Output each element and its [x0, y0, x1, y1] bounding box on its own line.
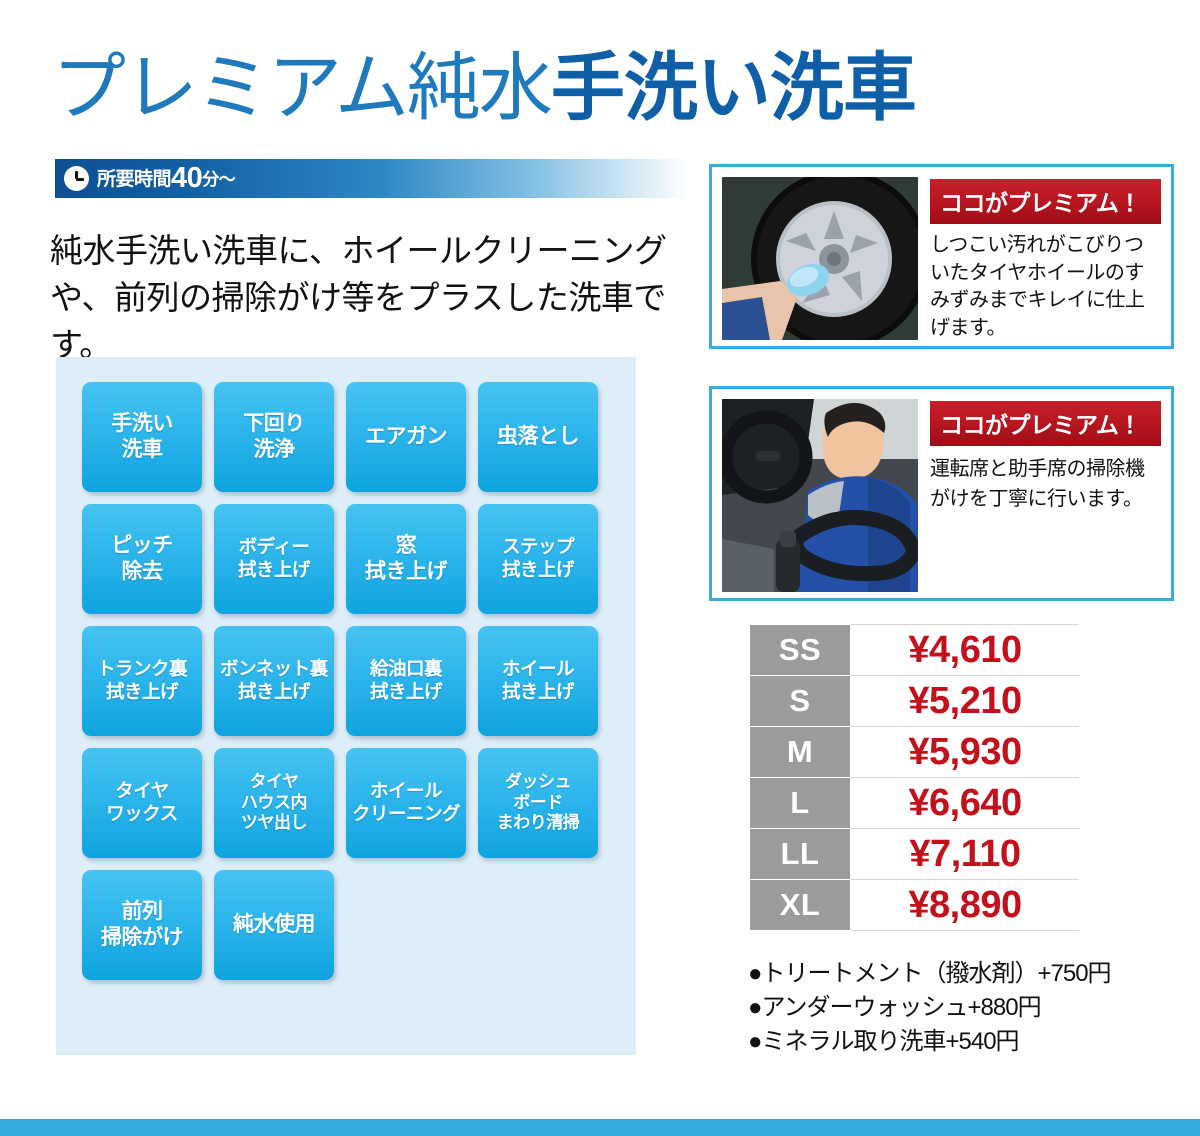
price-row: LL¥7,110 — [750, 829, 1080, 880]
feature-tile: タイヤ ハウス内 ツヤ出し — [214, 748, 334, 858]
callout-text: しつこい汚れがこびりついたタイヤホイールのすみずみまでキレイに仕上げます。 — [930, 232, 1161, 342]
page-title-light: プレミアム純水 — [52, 46, 551, 129]
premium-callout-interior: ココがプレミアム！ 運転席と助手席の掃除機がけを丁寧に行います。 — [709, 386, 1174, 601]
feature-tile-label: ボンネット裏 拭き上げ — [220, 658, 328, 703]
premium-banner: ココがプレミアム！ — [930, 179, 1161, 224]
feature-tile: 前列 掃除がけ — [82, 870, 202, 980]
feature-tile-label: 下回り 洗浄 — [243, 411, 305, 462]
feature-tile: 給油口裏 拭き上げ — [346, 626, 466, 736]
feature-tile: ホイール クリーニング — [346, 748, 466, 858]
price-value: ¥5,930 — [851, 727, 1080, 778]
price-value: ¥4,610 — [851, 625, 1080, 676]
feature-tile: エアガン — [346, 382, 466, 492]
price-row: XL¥8,890 — [750, 880, 1080, 931]
feature-tile-label: ホイール クリーニング — [352, 780, 460, 825]
feature-tile-label: ステップ 拭き上げ — [502, 536, 574, 581]
feature-row: 前列 掃除がけ純水使用 — [82, 870, 636, 980]
duration-text: 所要時間40分〜 — [97, 162, 235, 195]
feature-tile: ボンネット裏 拭き上げ — [214, 626, 334, 736]
feature-tile: 手洗い 洗車 — [82, 382, 202, 492]
price-row: L¥6,640 — [750, 778, 1080, 829]
feature-tile-label: 給油口裏 拭き上げ — [370, 658, 442, 703]
premium-banner: ココがプレミアム！ — [930, 401, 1161, 446]
price-value: ¥6,640 — [851, 778, 1080, 829]
feature-tile: タイヤ ワックス — [82, 748, 202, 858]
feature-tile: 純水使用 — [214, 870, 334, 980]
price-size-label: SS — [750, 625, 851, 676]
feature-row: 手洗い 洗車下回り 洗浄エアガン虫落とし — [82, 382, 636, 492]
service-description: 純水手洗い洗車に、ホイールクリーニングや、前列の掃除がけ等をプラスした洗車です。 — [50, 228, 720, 369]
price-row: M¥5,930 — [750, 727, 1080, 778]
feature-tile: 虫落とし — [478, 382, 598, 492]
poster-page: プレミアム純水手洗い洗車 所要時間40分〜 純水手洗い洗車に、ホイールクリーニン… — [0, 0, 1200, 1136]
price-size-label: LL — [750, 829, 851, 880]
callout-body: ココがプレミアム！ しつこい汚れがこびりついたタイヤホイールのすみずみまでキレイ… — [930, 177, 1161, 342]
feature-tile: ボディー 拭き上げ — [214, 504, 334, 614]
feature-tile-label: 窓 拭き上げ — [365, 533, 447, 584]
price-size-label: M — [750, 727, 851, 778]
price-table-body: SS¥4,610S¥5,210M¥5,930L¥6,640LL¥7,110XL¥… — [750, 625, 1080, 931]
price-row: S¥5,210 — [750, 676, 1080, 727]
feature-tile-label: トランク裏 拭き上げ — [97, 658, 187, 703]
options-list: ●トリートメント（撥水剤）+750円●アンダーウォッシュ+880円●ミネラル取り… — [748, 957, 1168, 1059]
feature-tile-label: 前列 掃除がけ — [101, 899, 183, 950]
price-value: ¥5,210 — [851, 676, 1080, 727]
callout-body: ココがプレミアム！ 運転席と助手席の掃除機がけを丁寧に行います。 — [930, 399, 1161, 514]
feature-tile: 下回り 洗浄 — [214, 382, 334, 492]
feature-tile-label: 虫落とし — [497, 424, 579, 450]
feature-row: タイヤ ワックスタイヤ ハウス内 ツヤ出しホイール クリーニングダッシュ ボード… — [82, 748, 636, 858]
duration-value: 40 — [171, 162, 202, 194]
price-size-label: S — [750, 676, 851, 727]
price-value: ¥7,110 — [851, 829, 1080, 880]
feature-tile-label: ホイール 拭き上げ — [502, 658, 574, 703]
feature-tile: トランク裏 拭き上げ — [82, 626, 202, 736]
duration-label: 所要時間 — [97, 169, 171, 190]
feature-tile: ピッチ 除去 — [82, 504, 202, 614]
page-title: プレミアム純水手洗い洗車 — [52, 42, 952, 134]
feature-tile-label: 純水使用 — [233, 912, 315, 938]
price-row: SS¥4,610 — [750, 625, 1080, 676]
option-line: ●ミネラル取り洗車+540円 — [748, 1025, 1168, 1059]
feature-grid-panel: 手洗い 洗車下回り 洗浄エアガン虫落としピッチ 除去ボディー 拭き上げ窓 拭き上… — [56, 357, 636, 1055]
feature-row: ピッチ 除去ボディー 拭き上げ窓 拭き上げステップ 拭き上げ — [82, 504, 636, 614]
feature-tile-label: ピッチ 除去 — [111, 533, 173, 584]
feature-tile-label: エアガン — [365, 424, 447, 450]
feature-tile: ホイール 拭き上げ — [478, 626, 598, 736]
feature-grid: 手洗い 洗車下回り 洗浄エアガン虫落としピッチ 除去ボディー 拭き上げ窓 拭き上… — [82, 382, 636, 980]
feature-row: トランク裏 拭き上げボンネット裏 拭き上げ給油口裏 拭き上げホイール 拭き上げ — [82, 626, 636, 736]
duration-suffix: 分〜 — [202, 170, 235, 189]
interior-photo-art — [722, 399, 918, 592]
page-title-bold: 手洗い洗車 — [551, 46, 916, 129]
feature-tile-label: タイヤ ハウス内 ツヤ出し — [241, 772, 307, 833]
option-line: ●トリートメント（撥水剤）+750円 — [748, 957, 1168, 991]
interior-vacuum-photo — [722, 399, 918, 592]
price-table: SS¥4,610S¥5,210M¥5,930L¥6,640LL¥7,110XL¥… — [749, 624, 1079, 931]
premium-callout-wheel: ココがプレミアム！ しつこい汚れがこびりついたタイヤホイールのすみずみまでキレイ… — [709, 164, 1174, 349]
feature-tile-label: ダッシュ ボード まわり清掃 — [497, 772, 580, 833]
footer-bar — [0, 1119, 1200, 1136]
wheel-photo-art — [722, 177, 918, 340]
feature-tile-label: 手洗い 洗車 — [111, 411, 173, 462]
feature-tile: ステップ 拭き上げ — [478, 504, 598, 614]
duration-bar: 所要時間40分〜 — [55, 159, 688, 198]
clock-icon — [64, 166, 89, 191]
price-size-label: XL — [750, 880, 851, 931]
wheel-cleaning-photo — [722, 177, 918, 340]
price-size-label: L — [750, 778, 851, 829]
callout-text: 運転席と助手席の掃除機がけを丁寧に行います。 — [930, 454, 1161, 514]
price-value: ¥8,890 — [851, 880, 1080, 931]
feature-tile: ダッシュ ボード まわり清掃 — [478, 748, 598, 858]
feature-tile: 窓 拭き上げ — [346, 504, 466, 614]
feature-tile-label: タイヤ ワックス — [106, 780, 177, 825]
option-line: ●アンダーウォッシュ+880円 — [748, 991, 1168, 1025]
feature-tile-label: ボディー 拭き上げ — [238, 536, 310, 581]
